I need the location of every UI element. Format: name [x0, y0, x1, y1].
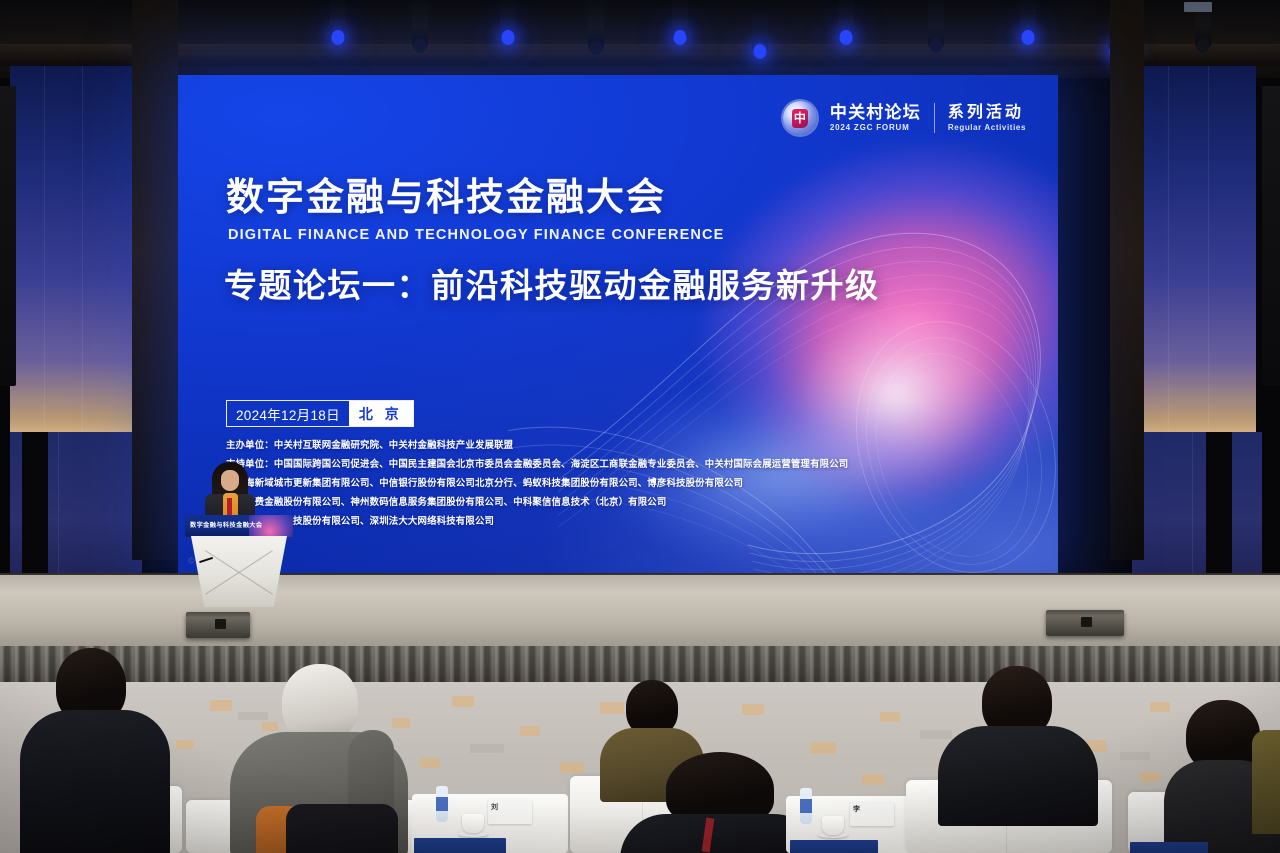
lighting-truss	[150, 52, 1150, 62]
attendee-dark-overcoat	[286, 804, 398, 853]
event-date: 2024年12月18日	[227, 401, 349, 426]
conference-title-cn: 数字金融与科技金融大会	[226, 179, 666, 219]
zgc-brand-en: 2024 ZGC FORUM	[830, 123, 921, 132]
wall-panel-upper-left	[10, 66, 132, 434]
speaker-person	[202, 462, 258, 520]
zgc-brand-text-block: 中关村论坛 2024 ZGC FORUM	[830, 104, 921, 132]
stage-light-7	[838, 0, 854, 42]
zgc-forum-logo-lockup: 中 中关村论坛 2024 ZGC FORUM 系列活动 Regular Acti…	[783, 101, 1026, 135]
podium: 数字金融与科技金融大会	[185, 515, 293, 607]
organizer-line-3: 北京海新域城市更新集团有限公司、中信银行股份有限公司北京分行、蚂蚁科技集团股份有…	[226, 478, 848, 487]
stage-light-5	[672, 0, 688, 42]
speaker-face	[221, 470, 239, 491]
name-placard-right-text: 李	[853, 804, 860, 814]
name-placard-right: 李	[850, 802, 894, 826]
attendee-right	[938, 666, 1098, 816]
event-city: 北 京	[349, 401, 413, 426]
table-card-far-right	[1130, 842, 1208, 853]
zgc-emblem-icon: 中	[783, 101, 817, 135]
stage-light-3	[500, 0, 516, 42]
screen-content: 中 中关村论坛 2024 ZGC FORUM 系列活动 Regular Acti…	[178, 75, 1058, 575]
stage-light-4	[588, 0, 604, 52]
organizer-line-2: 支持单位：中国国际跨国公司促进会、中国民主建国会北京市委员会金融委员会、海淀区工…	[226, 459, 848, 468]
exit-sign	[1184, 2, 1212, 12]
line-array-speaker-right	[1262, 86, 1280, 386]
podium-banner-text: 数字金融与科技金融大会	[190, 520, 262, 529]
attendee-head	[282, 664, 358, 742]
attendee-torso	[20, 710, 170, 853]
teacup-2	[822, 816, 844, 835]
zgc-emblem-letter: 中	[794, 112, 806, 124]
stage-light-9	[1020, 0, 1036, 42]
water-bottle-1	[436, 786, 448, 822]
podium-facet-lines	[191, 536, 287, 607]
table-card-left	[414, 838, 506, 853]
name-placard-left-text: 刘	[491, 802, 498, 812]
ceiling	[0, 0, 1280, 78]
event-meta-badge: 2024年12月18日 北 京	[226, 400, 414, 427]
organizer-list: 主办单位：中关村互联网金融研究院、中关村金融科技产业发展联盟 支持单位：中国国际…	[226, 440, 848, 535]
attendee-torso	[938, 726, 1098, 826]
wall-recess-right	[1110, 0, 1144, 560]
stage-light-8	[928, 0, 944, 50]
stage-monitor-right	[1046, 610, 1124, 636]
logo-divider	[934, 103, 935, 133]
name-placard-left: 刘	[488, 800, 532, 824]
zgc-brand-cn: 中关村论坛	[830, 104, 921, 122]
conference-hall-photo: 中 中关村论坛 2024 ZGC FORUM 系列活动 Regular Acti…	[0, 0, 1280, 853]
podium-banner: 数字金融与科技金融大会	[185, 515, 293, 537]
water-bottle-2	[800, 788, 812, 824]
attendee-white-hair	[224, 664, 412, 853]
line-array-speaker-left	[0, 86, 16, 386]
teacup-1	[462, 814, 484, 833]
series-label-en: Regular Activities	[948, 123, 1026, 132]
wall-panel-upper-right	[1138, 66, 1256, 434]
conference-title-en: DIGITAL FINANCE AND TECHNOLOGY FINANCE C…	[228, 227, 724, 243]
led-presentation-screen: 中 中关村论坛 2024 ZGC FORUM 系列活动 Regular Acti…	[178, 75, 1058, 575]
forum-subtitle-cn: 专题论坛一：前沿科技驱动金融服务新升级	[224, 259, 880, 307]
speaker-lanyard	[227, 498, 232, 516]
stage-light-6	[752, 4, 768, 56]
attendee-torso	[1252, 730, 1280, 834]
series-text-block: 系列活动 Regular Activities	[948, 104, 1026, 133]
series-label-cn: 系列活动	[948, 104, 1026, 122]
stage-light-1	[330, 0, 346, 42]
organizer-line-1: 主办单位：中关村互联网金融研究院、中关村金融科技产业发展联盟	[226, 440, 848, 449]
attendee-front-left	[20, 648, 170, 853]
attendee-olive-right-edge	[1252, 712, 1280, 832]
organizer-line-5: 上海合合信息科技股份有限公司、深圳法大大网络科技有限公司	[226, 516, 848, 525]
table-card-right	[790, 840, 878, 853]
stage-monitor-left	[186, 612, 250, 638]
organizer-line-4: 马上消费金融股份有限公司、神州数码信息服务集团股份有限公司、中科聚信信息技术（北…	[226, 497, 848, 506]
stage-light-2	[412, 0, 428, 50]
wall-recess-left	[132, 0, 178, 560]
podium-body	[191, 536, 287, 607]
